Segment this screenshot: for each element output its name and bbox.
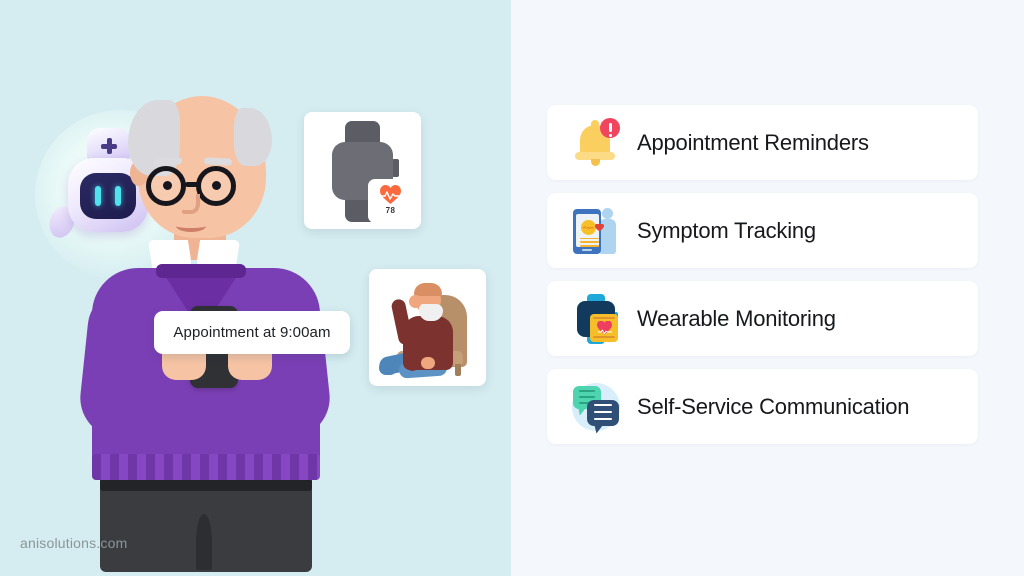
appointment-tooltip: Appointment at 9:00am (154, 311, 350, 354)
seated-hand-raised (409, 295, 422, 308)
feature-label-symptom-tracking: Symptom Tracking (637, 218, 816, 244)
pulse-line-icon (598, 329, 612, 334)
feature-card-symptom-tracking[interactable]: Symptom Tracking (547, 193, 978, 268)
man-trouser-fold (196, 514, 212, 570)
seated-hair (414, 283, 442, 296)
illustration-panel: Appointment at 9:00am 78 (0, 0, 511, 576)
man-arm-left (76, 284, 169, 441)
watch-crown (392, 159, 399, 177)
smartwatch-heart-rate-card: 78 (304, 112, 421, 229)
pulse-line-icon (381, 190, 401, 200)
seated-beard (419, 304, 443, 321)
man-eye-left (163, 181, 172, 190)
seated-elderly-man-card (369, 269, 486, 386)
seated-hand-lower (421, 357, 435, 369)
elderly-man-figure (78, 82, 333, 467)
feature-card-self-service-communication[interactable]: Self-Service Communication (547, 369, 978, 444)
feature-label-self-service-communication: Self-Service Communication (637, 394, 909, 420)
sweater-collar (156, 264, 246, 278)
seated-shin (379, 361, 397, 375)
feature-card-wearable-monitoring[interactable]: Wearable Monitoring (547, 281, 978, 356)
man-hair-right (234, 108, 272, 166)
watch-case: 78 (332, 142, 393, 200)
bell-notification-icon (569, 116, 623, 170)
features-panel: Appointment Reminders Sympto (511, 0, 1024, 576)
armchair-leg-right (455, 364, 461, 376)
man-nose (182, 194, 200, 214)
glasses-bridge (185, 182, 198, 187)
appointment-tooltip-text: Appointment at 9:00am (173, 324, 330, 341)
smartwatch-heart-icon (569, 292, 623, 346)
man-mouth (176, 220, 206, 232)
phone-vitals-icon (569, 204, 623, 258)
feature-card-appointment-reminders[interactable]: Appointment Reminders (547, 105, 978, 180)
heart-rate-value: 78 (368, 206, 413, 215)
slide-canvas: Appointment at 9:00am 78 (0, 0, 1024, 576)
chat-bubble-incoming-icon (587, 400, 619, 426)
feature-label-wearable-monitoring: Wearable Monitoring (637, 306, 836, 332)
sweater-hem (92, 454, 320, 480)
site-watermark: anisolutions.com (20, 535, 127, 551)
man-eyebrow-right (204, 157, 232, 165)
alert-badge-icon (600, 118, 620, 138)
chat-bubbles-icon (569, 380, 623, 434)
man-eye-right (212, 181, 221, 190)
feature-list: Appointment Reminders Sympto (547, 105, 978, 444)
watch-screen: 78 (368, 179, 413, 223)
feature-label-appointment-reminders: Appointment Reminders (637, 130, 869, 156)
